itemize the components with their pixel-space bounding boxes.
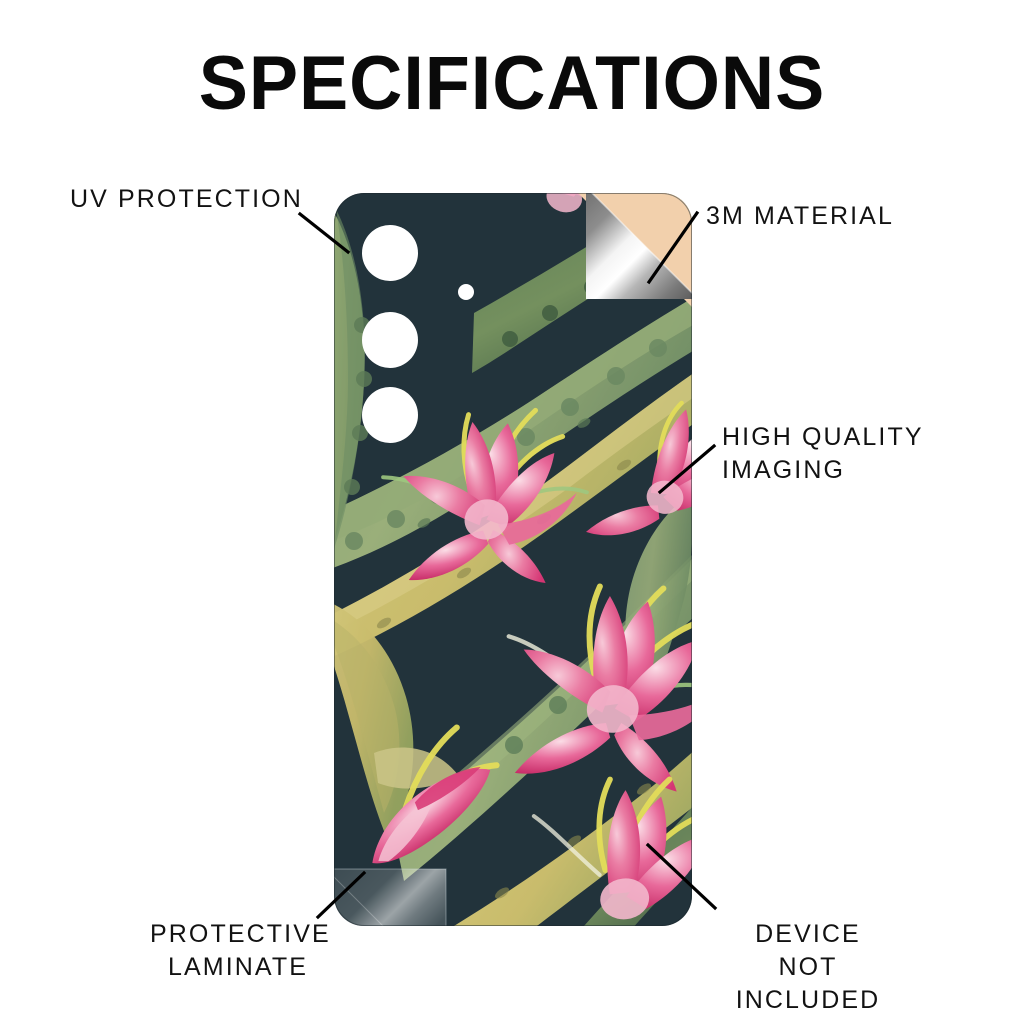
leader-uv-protection [300, 214, 348, 252]
leader-high-quality-imaging [660, 446, 714, 492]
callout-label-uv-protection: UV PROTECTION [70, 183, 303, 216]
leader-lines [0, 0, 1024, 1024]
leader-3m-material [649, 213, 697, 282]
callout-label-3m-material: 3M MATERIAL [706, 200, 894, 233]
leader-protective-laminate [318, 873, 364, 917]
leader-device-not-included [648, 845, 715, 908]
callout-label-protective-laminate: PROTECTIVE LAMINATE [150, 918, 326, 984]
specifications-infographic: SPECIFICATIONS [0, 0, 1024, 1024]
callout-label-device-not-included: DEVICE NOT INCLUDED [722, 918, 894, 1017]
callout-label-high-quality-imaging: HIGH QUALITY IMAGING [722, 421, 924, 487]
